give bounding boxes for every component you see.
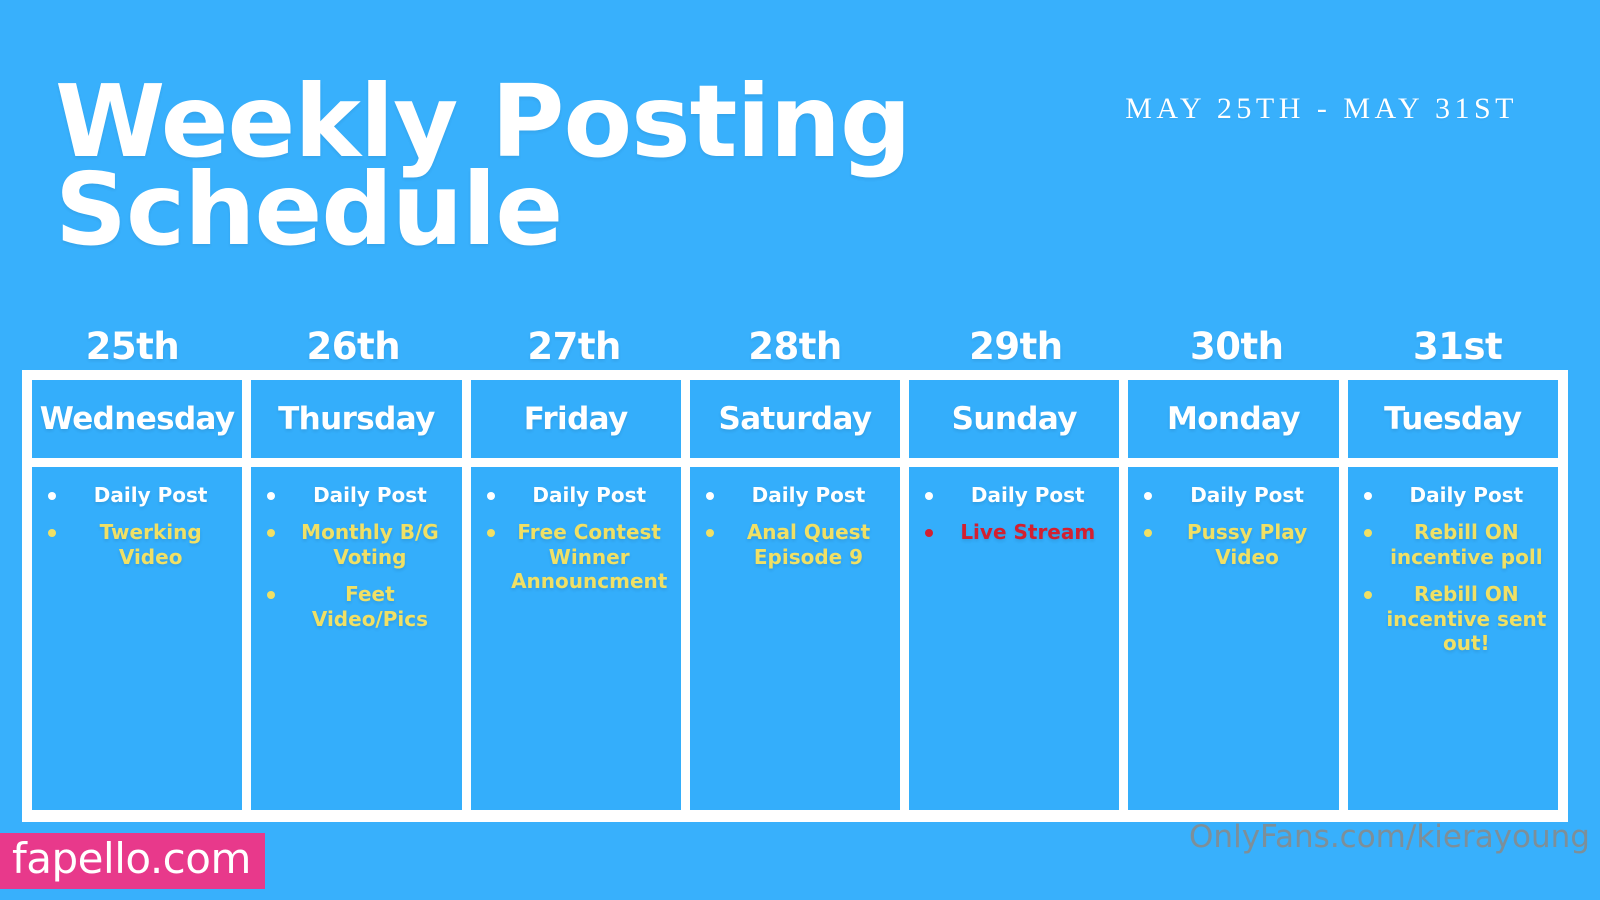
task-label: Rebill ON incentive poll	[1390, 520, 1543, 568]
day-number-label: 27th	[527, 328, 621, 365]
day-number-cell: 30th	[1126, 322, 1347, 370]
task-list: Daily PostLive Stream	[917, 483, 1111, 545]
task-label: Free Contest Winner Announcment	[511, 520, 667, 593]
day-task-cell: Daily PostPussy Play Video	[1128, 467, 1338, 810]
task-list: Daily PostRebill ON incentive pollRebill…	[1356, 483, 1550, 655]
day-number-cell: 31st	[1347, 322, 1568, 370]
task-item: Feet Video/Pics	[259, 582, 453, 631]
task-label: Feet Video/Pics	[312, 582, 428, 630]
day-number-cell: 29th	[905, 322, 1126, 370]
schedule-grid: WednesdayDaily PostTwerking VideoThursda…	[32, 380, 1558, 810]
day-name-label: Thursday	[278, 404, 435, 435]
day-number-label: 29th	[969, 328, 1063, 365]
fapello-watermark-text: fapello.com	[12, 834, 251, 883]
bullet-icon	[267, 591, 275, 599]
poster-header: Weekly Posting Schedule MAY 25TH - MAY 3…	[0, 0, 1600, 300]
task-label: Pussy Play Video	[1187, 520, 1307, 568]
day-name-header: Monday	[1128, 380, 1338, 458]
task-item: Daily Post	[40, 483, 234, 507]
day-name-label: Friday	[524, 404, 628, 435]
task-label: Daily Post	[971, 483, 1085, 507]
day-column: SundayDaily PostLive Stream	[909, 380, 1119, 810]
day-task-cell: Daily PostFree Contest Winner Announcmen…	[471, 467, 681, 810]
task-list: Daily PostTwerking Video	[40, 483, 234, 569]
task-label: Twerking Video	[100, 520, 202, 568]
day-column: TuesdayDaily PostRebill ON incentive pol…	[1348, 380, 1558, 810]
task-label: Daily Post	[1409, 483, 1523, 507]
task-label: Daily Post	[752, 483, 866, 507]
bullet-icon	[1364, 529, 1372, 537]
day-task-cell: Daily PostLive Stream	[909, 467, 1119, 810]
task-item: Daily Post	[698, 483, 892, 507]
task-item: Rebill ON incentive poll	[1356, 520, 1550, 569]
bullet-icon	[1144, 492, 1152, 500]
task-label: Daily Post	[94, 483, 208, 507]
bullet-icon	[706, 492, 714, 500]
day-number-label: 25th	[86, 328, 180, 365]
day-task-cell: Daily PostRebill ON incentive pollRebill…	[1348, 467, 1558, 810]
day-column: FridayDaily PostFree Contest Winner Anno…	[471, 380, 681, 810]
bullet-icon	[267, 529, 275, 537]
bullet-icon	[487, 529, 495, 537]
task-item: Live Stream	[917, 520, 1111, 544]
task-item: Pussy Play Video	[1136, 520, 1330, 569]
bullet-icon	[925, 492, 933, 500]
onlyfans-link-text: OnlyFans.com/kierayoung	[1189, 820, 1590, 854]
task-label: Anal Quest Episode 9	[747, 520, 870, 568]
weekly-schedule-table: WednesdayDaily PostTwerking VideoThursda…	[22, 370, 1568, 822]
day-task-cell: Daily PostTwerking Video	[32, 467, 242, 810]
day-name-label: Saturday	[718, 404, 871, 435]
day-number-cell: 28th	[685, 322, 906, 370]
task-list: Daily PostPussy Play Video	[1136, 483, 1330, 569]
task-label: Daily Post	[532, 483, 646, 507]
day-column: WednesdayDaily PostTwerking Video	[32, 380, 242, 810]
task-label: Monthly B/G Voting	[301, 520, 439, 568]
day-number-label: 26th	[307, 328, 401, 365]
day-number-row: 25th26th27th28th29th30th31st	[22, 322, 1568, 370]
bullet-icon	[925, 529, 933, 537]
bullet-icon	[706, 529, 714, 537]
day-name-label: Tuesday	[1384, 404, 1521, 435]
task-label: Rebill ON incentive sent out!	[1386, 582, 1546, 655]
bullet-icon	[48, 529, 56, 537]
task-list: Daily PostAnal Quest Episode 9	[698, 483, 892, 569]
task-label: Live Stream	[960, 520, 1095, 544]
bullet-icon	[487, 492, 495, 500]
task-item: Anal Quest Episode 9	[698, 520, 892, 569]
day-column: SaturdayDaily PostAnal Quest Episode 9	[690, 380, 900, 810]
task-list: Daily PostMonthly B/G VotingFeet Video/P…	[259, 483, 453, 631]
day-column: ThursdayDaily PostMonthly B/G VotingFeet…	[251, 380, 461, 810]
task-list: Daily PostFree Contest Winner Announcmen…	[479, 483, 673, 594]
task-label: Daily Post	[1190, 483, 1304, 507]
task-item: Daily Post	[1136, 483, 1330, 507]
page-title: Weekly Posting Schedule	[55, 78, 875, 254]
task-item: Twerking Video	[40, 520, 234, 569]
day-name-label: Wednesday	[40, 404, 235, 435]
day-number-label: 30th	[1190, 328, 1284, 365]
day-number-cell: 26th	[243, 322, 464, 370]
day-name-header: Saturday	[690, 380, 900, 458]
day-number-cell: 27th	[464, 322, 685, 370]
bullet-icon	[48, 492, 56, 500]
task-item: Daily Post	[1356, 483, 1550, 507]
bullet-icon	[1144, 529, 1152, 537]
day-name-label: Monday	[1167, 404, 1300, 435]
task-item: Monthly B/G Voting	[259, 520, 453, 569]
task-item: Rebill ON incentive sent out!	[1356, 582, 1550, 655]
task-item: Daily Post	[479, 483, 673, 507]
task-item: Free Contest Winner Announcment	[479, 520, 673, 593]
day-number-label: 28th	[748, 328, 842, 365]
task-label: Daily Post	[313, 483, 427, 507]
day-name-header: Thursday	[251, 380, 461, 458]
day-task-cell: Daily PostMonthly B/G VotingFeet Video/P…	[251, 467, 461, 810]
day-task-cell: Daily PostAnal Quest Episode 9	[690, 467, 900, 810]
day-name-header: Friday	[471, 380, 681, 458]
task-item: Daily Post	[917, 483, 1111, 507]
day-name-header: Wednesday	[32, 380, 242, 458]
task-item: Daily Post	[259, 483, 453, 507]
day-name-header: Tuesday	[1348, 380, 1558, 458]
day-name-label: Sunday	[952, 404, 1077, 435]
day-name-header: Sunday	[909, 380, 1119, 458]
day-number-label: 31st	[1413, 328, 1502, 365]
day-column: MondayDaily PostPussy Play Video	[1128, 380, 1338, 810]
date-range-label: MAY 25TH - MAY 31ST	[1125, 92, 1518, 126]
day-number-cell: 25th	[22, 322, 243, 370]
bullet-icon	[267, 492, 275, 500]
bullet-icon	[1364, 591, 1372, 599]
bullet-icon	[1364, 492, 1372, 500]
fapello-watermark-badge: fapello.com	[0, 833, 265, 889]
